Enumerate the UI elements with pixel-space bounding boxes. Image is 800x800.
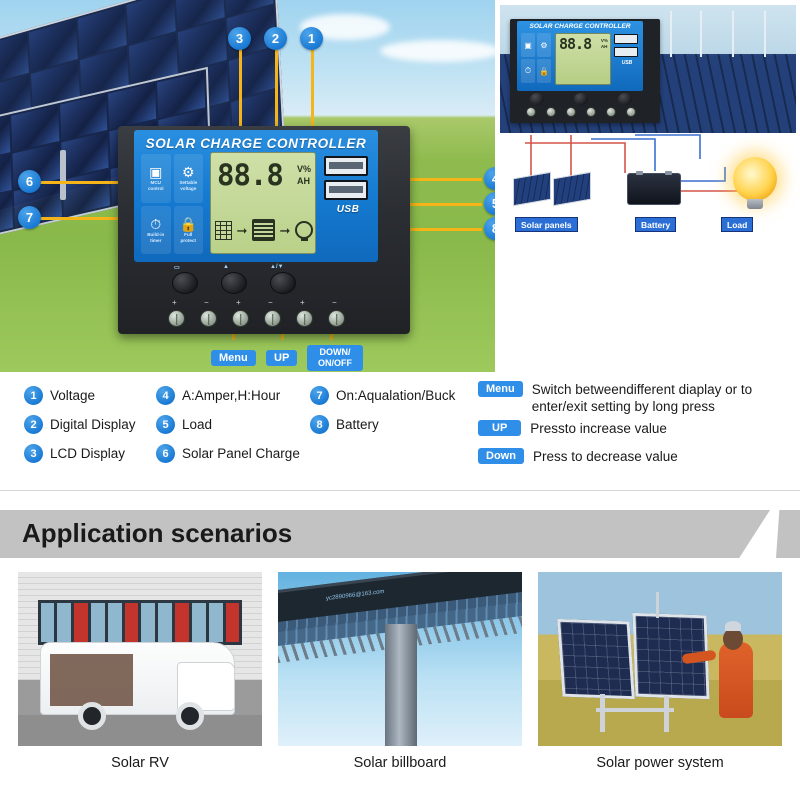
legend-badge: 2 — [24, 415, 43, 434]
callout-badge-3: 3 — [228, 27, 251, 50]
panel-leg — [664, 696, 669, 732]
tower-icon — [732, 11, 734, 57]
scenario-card-solar-rv: Solar RV — [18, 572, 262, 772]
terminal-screw — [328, 310, 345, 327]
legend-badge: 3 — [24, 444, 43, 463]
wiring-connection-area: Solar panels Battery Load — [495, 133, 800, 293]
lcd-flow-diagram: ➞ ➞ — [215, 213, 313, 247]
button-help-menu: Menu Switch betweendifferent diaplay or … — [478, 381, 788, 415]
feature-buildin-timer: ⏱ Build-in timer — [141, 206, 171, 255]
mini-usb-label: USB — [614, 60, 640, 66]
legend-label: On:Aqualation/Buck — [336, 388, 455, 403]
lcd-unit-top: V% — [297, 163, 311, 175]
feature-label: MCU — [151, 180, 161, 185]
down-onoff-push-button[interactable] — [270, 272, 296, 294]
panel-frame — [596, 708, 674, 712]
feature-label: Settable — [179, 180, 197, 185]
terminal-mark: + — [300, 298, 305, 307]
panel-leg — [600, 694, 605, 732]
feature-label: voltage — [180, 186, 196, 191]
mini-usb-block: USB — [614, 34, 640, 66]
gear-icon: ⚙ — [537, 33, 551, 57]
help-desc-menu: Switch betweendifferent diaplay or to en… — [532, 381, 788, 415]
mini-down-button[interactable] — [618, 93, 632, 105]
legend-item-6: 6 Solar Panel Charge — [156, 444, 300, 463]
arrow-right-icon: ➞ — [237, 224, 248, 237]
feature-full-protect: 🔒 Full protect — [174, 206, 204, 255]
mini-lcd-display: 88.8 V% AH — [555, 33, 611, 85]
device-button-row: ▭ ▲ ▲/▼ — [134, 264, 378, 298]
down-button-glyph: ▲/▼ — [270, 264, 284, 270]
lcd-load-bulb-icon — [295, 221, 313, 239]
mini-device-front-panel: SOLAR CHARGE CONTROLLER ▣ ⚙ ⏱ 🔒 88.8 V% … — [517, 21, 643, 91]
section-divider — [0, 490, 800, 491]
help-desc-up: Pressto increase value — [530, 420, 667, 437]
antenna-mast — [656, 592, 659, 618]
scenario-card-solar-power-system: Solar power system — [538, 572, 782, 772]
terminal-screw — [200, 310, 217, 327]
terminal-mark: − — [332, 298, 337, 307]
key-badge-up: UP — [266, 350, 297, 366]
chip-icon: ▣ — [149, 165, 162, 179]
clock-icon: ⏱ — [521, 59, 535, 83]
key-badge-menu: Menu — [211, 350, 256, 366]
legend-badge: 5 — [156, 415, 175, 434]
lcd-value: 88.8 — [217, 161, 283, 190]
scenario-card-grid: Solar RV yc2890966@163.com Solar billboa… — [0, 572, 800, 772]
up-button-glyph: ▲ — [223, 264, 229, 270]
help-key-up: UP — [478, 420, 521, 436]
terminal-mark: − — [268, 298, 273, 307]
person-hat — [725, 621, 741, 631]
feature-mcu-control: ▣ MCU control — [141, 154, 171, 203]
building-windows — [38, 600, 243, 645]
legend-label: A:Amper,H:Hour — [182, 388, 280, 403]
terminal-mark: + — [236, 298, 241, 307]
scenario-card-solar-billboard: yc2890966@163.com Solar billboard — [278, 572, 522, 772]
terminal-screw — [168, 310, 185, 327]
legend-badge: 1 — [24, 386, 43, 405]
callout-badge-2: 2 — [264, 27, 287, 50]
usb-port-block: USB — [324, 156, 372, 215]
legend-item-1: 1 Voltage — [24, 386, 95, 405]
lock-icon: 🔒 — [180, 217, 197, 231]
legend-label: Solar Panel Charge — [182, 446, 300, 461]
solar-panel-left — [557, 619, 635, 699]
rv-side-panel — [50, 654, 133, 706]
lcd-battery-icon — [252, 219, 275, 241]
feature-label: protect — [180, 238, 196, 243]
billboard-text: yc2890966@163.com — [326, 589, 384, 602]
legend-item-7: 7 On:Aqualation/Buck — [310, 386, 455, 405]
feature-icon-grid: ▣ MCU control ⚙ Settable voltage ⏱ Build… — [141, 154, 203, 254]
callout-badge-1: 1 — [300, 27, 323, 50]
mini-terminal-strip — [520, 107, 650, 121]
lcd-unit-bottom: AH — [297, 175, 311, 187]
mini-controller-device: SOLAR CHARGE CONTROLLER ▣ ⚙ ⏱ 🔒 88.8 V% … — [510, 19, 660, 123]
mini-button-row — [530, 93, 640, 107]
terminal-screw — [296, 310, 313, 327]
terminal-strip: + − + − + − — [118, 298, 410, 334]
usb-port — [614, 47, 638, 57]
callout-badge-7: 7 — [18, 206, 41, 229]
legend-item-8: 8 Battery — [310, 415, 379, 434]
hero-section: SOLAR CHARGE CONTROLLER ▣ MCU control ⚙ … — [0, 0, 800, 372]
usb-label: USB — [324, 204, 372, 215]
scenario-caption-rv: Solar RV — [18, 755, 262, 771]
tower-icon — [700, 11, 702, 57]
ground — [18, 715, 262, 746]
mini-device-title: SOLAR CHARGE CONTROLLER — [517, 23, 643, 30]
legend-item-5: 5 Load — [156, 415, 212, 434]
menu-button-glyph: ▭ — [174, 264, 180, 271]
terminal-mark: + — [172, 298, 177, 307]
legend-badge: 8 — [310, 415, 329, 434]
scenario-caption-power-system: Solar power system — [538, 755, 782, 771]
legend-badge: 7 — [310, 386, 329, 405]
section-header-bar-accent — [776, 510, 800, 558]
tower-icon — [764, 11, 766, 57]
legend-item-2: 2 Digital Display — [24, 415, 136, 434]
button-help-up: UP Pressto increase value — [478, 420, 788, 437]
scenario-caption-billboard: Solar billboard — [278, 755, 522, 771]
section-title: Application scenarios — [22, 518, 292, 549]
menu-push-button[interactable] — [172, 272, 198, 294]
clock-icon: ⏱ — [150, 217, 161, 231]
button-help-down: Down Press to decrease value — [478, 448, 788, 465]
mini-feature-grid: ▣ ⚙ ⏱ 🔒 — [521, 33, 551, 83]
panel-leg — [60, 150, 66, 200]
legend-label: LCD Display — [50, 446, 125, 461]
mini-menu-button[interactable] — [530, 93, 544, 105]
key-badge-down-onoff: DOWN/ ON/OFF — [307, 345, 363, 371]
legend-item-3: 3 LCD Display — [24, 444, 125, 463]
terminal-screw — [232, 310, 249, 327]
person-body — [719, 642, 753, 718]
legend-label: Digital Display — [50, 417, 136, 432]
lcd-units: V% AH — [297, 163, 311, 187]
legend-section: 1 Voltage 2 Digital Display 3 LCD Displa… — [0, 372, 800, 494]
lock-icon: 🔒 — [537, 59, 551, 83]
wiring-load-bulb — [733, 157, 777, 201]
scenario-photo-billboard: yc2890966@163.com — [278, 572, 522, 746]
legend-label: Load — [182, 417, 212, 432]
wiring-label-load: Load — [721, 217, 753, 232]
help-key-menu: Menu — [478, 381, 523, 397]
legend-item-4: 4 A:Amper,H:Hour — [156, 386, 280, 405]
help-desc-down: Press to decrease value — [533, 448, 678, 465]
legend-badge: 6 — [156, 444, 175, 463]
lcd-display: 88.8 V% AH ➞ ➞ — [210, 152, 316, 254]
gear-icon: ⚙ — [182, 165, 195, 179]
mini-lcd-units: V% AH — [601, 38, 608, 50]
wiring-photo-background: SOLAR CHARGE CONTROLLER ▣ ⚙ ⏱ 🔒 88.8 V% … — [500, 5, 796, 133]
terminal-mark: − — [204, 298, 209, 307]
usb-port — [614, 34, 638, 44]
billboard-pole — [385, 624, 417, 746]
up-push-button[interactable] — [221, 272, 247, 294]
lcd-solar-panel-icon — [215, 221, 232, 240]
mini-up-button[interactable] — [574, 93, 588, 105]
mini-lcd-unit-bottom: AH — [601, 44, 608, 50]
chip-icon: ▣ — [521, 33, 535, 57]
tower-icon — [670, 11, 672, 57]
legend-label: Battery — [336, 417, 379, 432]
feature-label: Build-in — [147, 232, 164, 237]
scenario-photo-rv — [18, 572, 262, 746]
device-title: SOLAR CHARGE CONTROLLER — [134, 136, 378, 151]
feature-settable-voltage: ⚙ Settable voltage — [174, 154, 204, 203]
device-front-panel: SOLAR CHARGE CONTROLLER ▣ MCU control ⚙ … — [134, 130, 378, 262]
help-key-down: Down — [478, 448, 524, 464]
feature-label: Full — [184, 232, 192, 237]
terminal-screw — [264, 310, 281, 327]
solar-charge-controller-device: SOLAR CHARGE CONTROLLER ▣ MCU control ⚙ … — [118, 126, 410, 334]
mini-lcd-value: 88.8 — [559, 37, 591, 52]
wiring-label-solar-panels: Solar panels — [515, 217, 578, 232]
feature-label: timer — [150, 238, 161, 243]
application-scenarios-section: Application scenarios Solar RV — [0, 496, 800, 800]
wiring-battery — [627, 173, 681, 205]
legend-badge: 4 — [156, 386, 175, 405]
usb-port — [324, 180, 368, 200]
cloud-icon — [380, 40, 500, 62]
wiring-label-battery: Battery — [635, 217, 676, 232]
callout-badge-6: 6 — [18, 170, 41, 193]
feature-label: control — [148, 186, 164, 191]
wiring-diagram-panel: SOLAR CHARGE CONTROLLER ▣ ⚙ ⏱ 🔒 88.8 V% … — [495, 0, 800, 372]
person-head — [723, 628, 743, 650]
legend-label: Voltage — [50, 388, 95, 403]
usb-port — [324, 156, 368, 176]
scenario-photo-power-system — [538, 572, 782, 746]
arrow-right-icon: ➞ — [280, 224, 291, 237]
